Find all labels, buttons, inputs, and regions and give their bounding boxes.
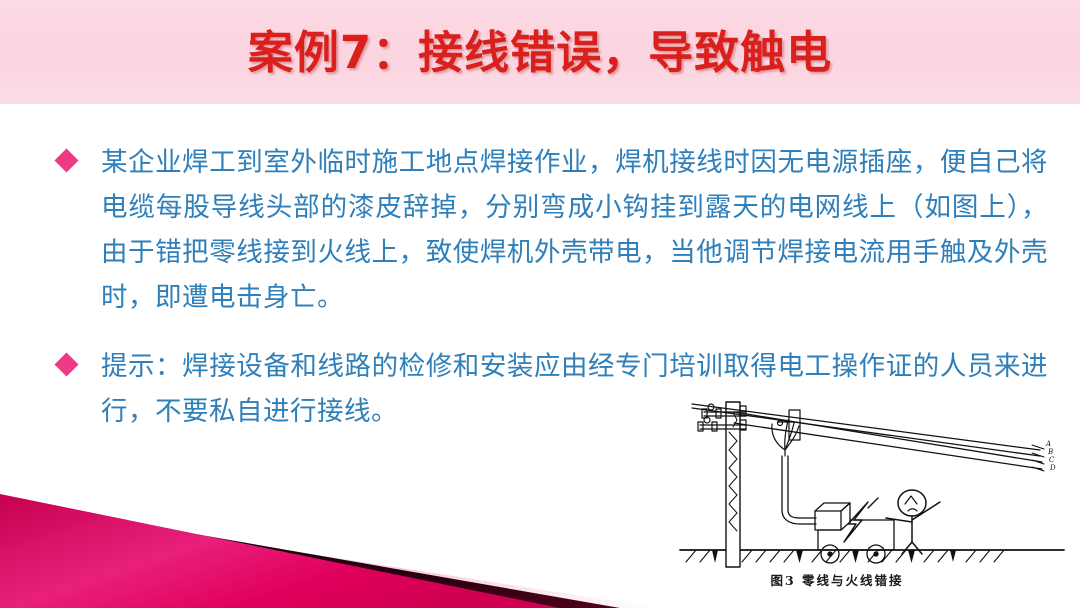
wire-label-b: B <box>1047 448 1053 456</box>
slide: 案例7：接线错误，导致触电 某企业焊工到室外临时施工地点焊接作业，焊机接线时因无… <box>0 0 1080 608</box>
wire-label-d: D <box>1049 464 1056 472</box>
wire-label-a: A <box>1045 440 1051 448</box>
diamond-bullet-icon <box>54 352 78 376</box>
diamond-bullet-icon <box>54 148 78 172</box>
page-title: 案例7：接线错误，导致触电 <box>0 16 1080 81</box>
figure-caption: 图3 零线与火线错接 <box>672 570 1002 589</box>
bullet-item-label: 某企业焊工到室外临时施工地点焊接作业，焊机接线时因无电源插座，便自己将电缆每股导… <box>101 140 1048 320</box>
bullet-item-incident: 某企业焊工到室外临时施工地点焊接作业，焊机接线时因无电源插座，便自己将电缆每股导… <box>58 140 1048 320</box>
wire-label-c: C <box>1049 456 1055 464</box>
